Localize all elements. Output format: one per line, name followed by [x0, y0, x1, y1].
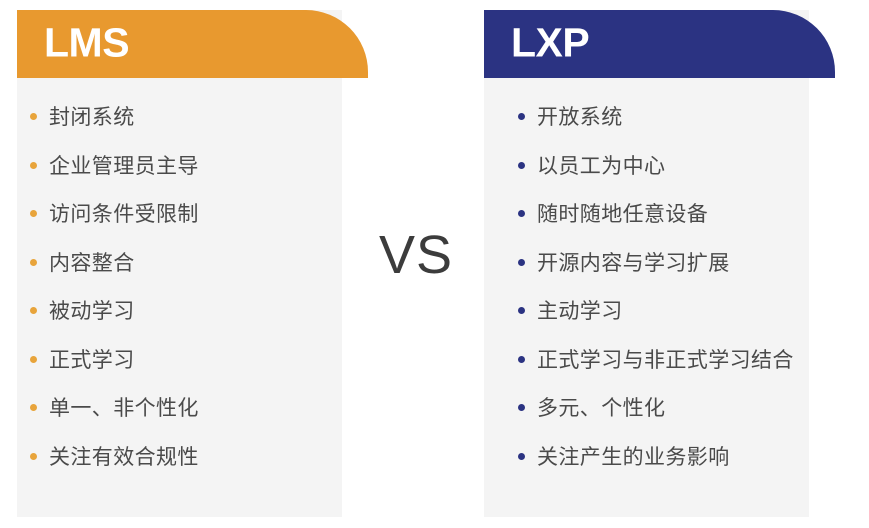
list-item: 封闭系统 — [30, 107, 355, 156]
comparison-infographic: LMS 封闭系统 企业管理员主导 访问条件受限制 内容整合 被动学习 — [0, 0, 869, 528]
bullet-dot-icon — [30, 113, 37, 120]
card-header-lxp: LXP — [484, 10, 835, 78]
bullet-dot-icon — [518, 210, 525, 217]
bullet-dot-icon — [30, 162, 37, 169]
list-item-label: 以员工为中心 — [537, 156, 665, 177]
list-item: 多元、个性化 — [518, 398, 843, 447]
list-item: 被动学习 — [30, 301, 355, 350]
list-item-label: 正式学习与非正式学习结合 — [537, 350, 794, 371]
list-item-label: 被动学习 — [49, 301, 135, 322]
list-item-label: 关注产生的业务影响 — [537, 447, 730, 468]
list-item-label: 主动学习 — [537, 301, 623, 322]
list-item: 正式学习 — [30, 350, 355, 399]
vs-separator-label: VS — [371, 228, 461, 282]
bullet-dot-icon — [518, 356, 525, 363]
bullet-dot-icon — [518, 162, 525, 169]
feature-list-lms: 封闭系统 企业管理员主导 访问条件受限制 内容整合 被动学习 正式学习 — [17, 78, 355, 495]
list-item: 开放系统 — [518, 107, 843, 156]
list-item: 随时随地任意设备 — [518, 204, 843, 253]
bullet-dot-icon — [30, 453, 37, 460]
list-item-label: 关注有效合规性 — [49, 447, 199, 468]
list-item-label: 正式学习 — [49, 350, 135, 371]
bullet-dot-icon — [518, 113, 525, 120]
bullet-dot-icon — [30, 259, 37, 266]
bullet-dot-icon — [30, 307, 37, 314]
bullet-dot-icon — [518, 259, 525, 266]
list-item: 单一、非个性化 — [30, 398, 355, 447]
feature-list-lxp: 开放系统 以员工为中心 随时随地任意设备 开源内容与学习扩展 主动学习 正式学习… — [484, 78, 843, 495]
list-item: 访问条件受限制 — [30, 204, 355, 253]
list-item: 内容整合 — [30, 253, 355, 302]
list-item: 关注有效合规性 — [30, 447, 355, 496]
list-item-label: 随时随地任意设备 — [537, 204, 708, 225]
list-item: 企业管理员主导 — [30, 156, 355, 205]
bullet-dot-icon — [518, 307, 525, 314]
card-title-lms: LMS — [44, 23, 129, 64]
list-item: 开源内容与学习扩展 — [518, 253, 843, 302]
list-item: 以员工为中心 — [518, 156, 843, 205]
list-item-label: 单一、非个性化 — [49, 398, 199, 419]
card-header-lms: LMS — [17, 10, 368, 78]
list-item-label: 访问条件受限制 — [49, 204, 199, 225]
bullet-dot-icon — [30, 356, 37, 363]
list-item: 正式学习与非正式学习结合 — [518, 350, 843, 399]
bullet-dot-icon — [30, 404, 37, 411]
list-item-label: 封闭系统 — [49, 107, 135, 128]
list-item-label: 多元、个性化 — [537, 398, 665, 419]
list-item: 关注产生的业务影响 — [518, 447, 843, 496]
list-item: 主动学习 — [518, 301, 843, 350]
list-item-label: 内容整合 — [49, 253, 135, 274]
list-item-label: 开源内容与学习扩展 — [537, 253, 730, 274]
list-item-label: 开放系统 — [537, 107, 623, 128]
list-item-label: 企业管理员主导 — [49, 156, 199, 177]
bullet-dot-icon — [518, 404, 525, 411]
card-title-lxp: LXP — [511, 23, 589, 64]
bullet-dot-icon — [30, 210, 37, 217]
bullet-dot-icon — [518, 453, 525, 460]
